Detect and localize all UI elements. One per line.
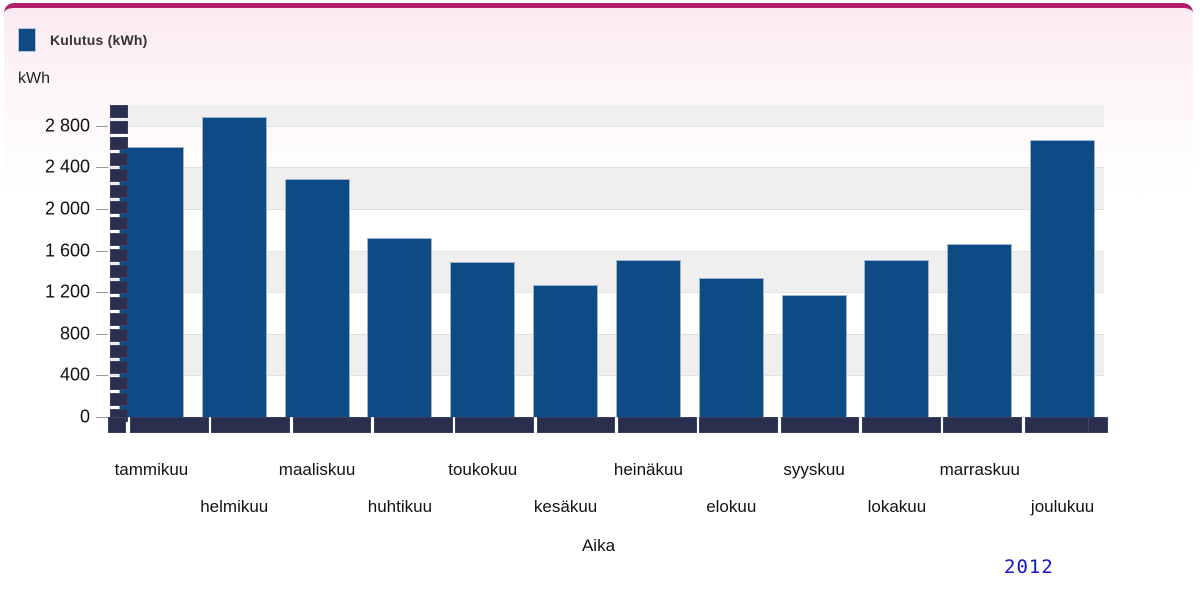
bar[interactable] (202, 117, 267, 417)
x-tick-label: tammikuu (115, 460, 189, 480)
y-tick-label: 0 (80, 407, 90, 428)
bar[interactable] (533, 285, 598, 417)
y-axis-segment (110, 169, 128, 182)
y-axis-segment (110, 329, 128, 342)
bar[interactable] (119, 147, 184, 417)
x-axis-segment (455, 417, 534, 433)
y-axis-segment (110, 233, 128, 246)
x-axis-segment (862, 417, 941, 433)
y-axis-segment (110, 105, 128, 118)
y-axis-line (110, 105, 128, 421)
y-tick-mark (96, 167, 108, 168)
y-axis-segment (110, 121, 128, 134)
y-axis-segment (110, 281, 128, 294)
y-axis-segment (110, 249, 128, 262)
bar-slot (938, 105, 1021, 417)
y-tick-label: 2 800 (45, 115, 90, 136)
plot-area (110, 105, 1104, 417)
x-axis-segment (130, 417, 209, 433)
chart-panel: Kulutus (kWh) kWh 04008001 2001 6002 000… (4, 3, 1193, 589)
y-axis-segment (110, 265, 128, 278)
x-axis-segment (1088, 417, 1108, 433)
x-axis-line (108, 417, 1108, 433)
y-axis-segment (110, 377, 128, 390)
x-tick-label: toukokuu (448, 460, 517, 480)
bar-slot (276, 105, 359, 417)
bar[interactable] (450, 262, 515, 417)
x-tick-label: maaliskuu (279, 460, 356, 480)
y-axis-segment (110, 153, 128, 166)
x-tick-label: marraskuu (940, 460, 1020, 480)
x-tick-label: heinäkuu (614, 460, 683, 480)
x-tick-label: helmikuu (200, 497, 268, 517)
x-axis-segment (374, 417, 453, 433)
x-axis-segment (943, 417, 1022, 433)
bar-slot (773, 105, 856, 417)
y-tick-label: 1 600 (45, 240, 90, 261)
bar-slot (607, 105, 690, 417)
x-tick-label: kesäkuu (534, 497, 597, 517)
y-tick-mark (96, 292, 108, 293)
bar[interactable] (285, 179, 350, 417)
y-tick-mark (96, 251, 108, 252)
x-axis-segment (108, 417, 126, 433)
x-tick-label: lokakuu (868, 497, 927, 517)
bar-slot (690, 105, 773, 417)
x-tick-label: huhtikuu (368, 497, 432, 517)
y-tick-mark (96, 375, 108, 376)
x-axis-segment (781, 417, 860, 433)
bar-slot (441, 105, 524, 417)
y-tick-label: 1 200 (45, 282, 90, 303)
y-axis-segment (110, 297, 128, 310)
x-axis-segment (618, 417, 697, 433)
bar[interactable] (367, 238, 432, 417)
bar[interactable] (699, 278, 764, 417)
bar-slot (1021, 105, 1104, 417)
year-annotation: 2012 (1004, 556, 1054, 578)
bar-series (110, 105, 1104, 417)
bar[interactable] (1030, 140, 1095, 417)
x-axis-segment (211, 417, 290, 433)
bar-slot (524, 105, 607, 417)
y-tick-mark (96, 209, 108, 210)
x-axis-segment (537, 417, 616, 433)
bar-slot (856, 105, 939, 417)
x-axis-segment (699, 417, 778, 433)
y-tick-mark (96, 126, 108, 127)
y-axis-segment (110, 201, 128, 214)
x-axis-segment (293, 417, 372, 433)
y-tick-label: 400 (60, 365, 90, 386)
y-axis-segment (110, 313, 128, 326)
bar[interactable] (782, 295, 847, 417)
x-tick-label: joulukuu (1031, 497, 1094, 517)
y-axis-segment (110, 217, 128, 230)
bar-slot (193, 105, 276, 417)
y-axis-segment (110, 137, 128, 150)
bar[interactable] (864, 260, 929, 417)
y-tick-mark (96, 334, 108, 335)
y-axis-segment (110, 393, 128, 406)
y-tick-label: 800 (60, 323, 90, 344)
bar[interactable] (616, 260, 681, 417)
x-tick-label: elokuu (706, 497, 756, 517)
y-tick-label: 2 400 (45, 157, 90, 178)
y-tick-mark (96, 417, 108, 418)
y-tick-label: 2 000 (45, 199, 90, 220)
chart-panel-inner: Kulutus (kWh) kWh 04008001 2001 6002 000… (4, 8, 1193, 589)
bar-slot (359, 105, 442, 417)
y-axis-segment (110, 185, 128, 198)
x-tick-label: syyskuu (783, 460, 844, 480)
x-axis-title: Aika (4, 536, 1193, 556)
bar[interactable] (947, 244, 1012, 417)
y-axis-ticks: 04008001 2001 6002 0002 4002 800 (4, 8, 90, 589)
y-axis-segment (110, 345, 128, 358)
y-axis-segment (110, 361, 128, 374)
